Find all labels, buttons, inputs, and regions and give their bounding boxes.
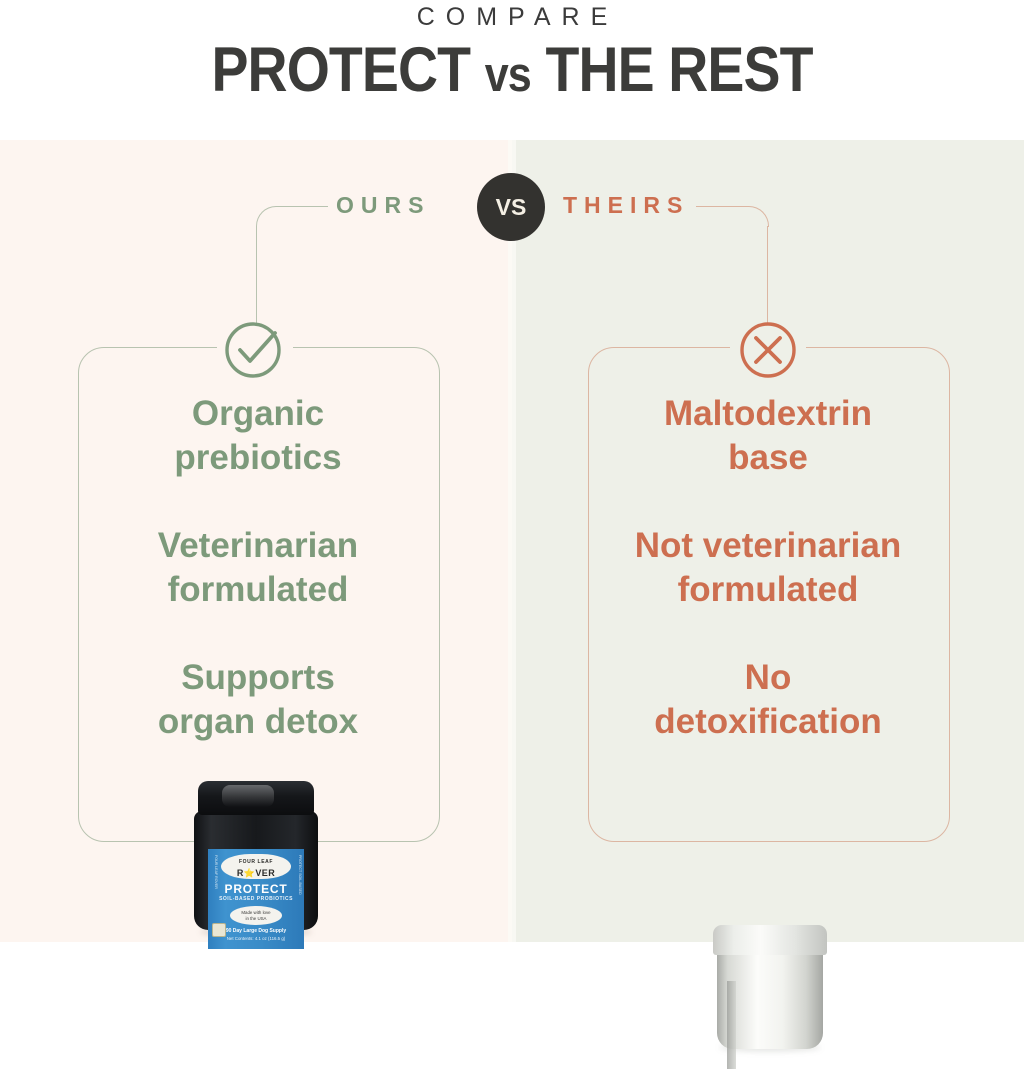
- drawback-list-theirs: Maltodextrinbase Not veterinarianformula…: [588, 392, 948, 744]
- list-item: Veterinarianformulated: [78, 524, 438, 612]
- column-heading-theirs: THEIRS: [563, 190, 689, 220]
- brand-logo-top: FOUR LEAF: [221, 854, 291, 868]
- product-supply-text: 90 Day Large Dog Supply: [208, 928, 304, 935]
- x-circle-icon: [736, 316, 800, 380]
- made-with-love-line2: in the USA: [230, 916, 282, 922]
- connector-line-theirs-horizontal: [696, 206, 748, 207]
- jar-lid-gloss: [222, 785, 274, 807]
- connector-line-ours-horizontal: [276, 206, 328, 207]
- column-heading-ours: OURS: [336, 190, 430, 220]
- competitor-jar-lid: [713, 925, 827, 955]
- brand-logo: FOUR LEAF R⭐VER: [221, 854, 291, 879]
- made-with-love-badge: Made with love in the USA: [230, 906, 282, 925]
- headline-vs-word: vs: [485, 48, 531, 102]
- competitor-jar-body: [717, 951, 823, 1049]
- jar-label: FOUR LEAF ROVER PROTECT SOIL-BASED FOUR …: [208, 849, 304, 949]
- product-name: PROTECT: [208, 882, 304, 896]
- headline-ours-word: PROTECT: [211, 35, 470, 105]
- header: COMPARE PROTECT vs THE REST: [0, 0, 1024, 140]
- comparison-infographic: COMPARE PROTECT vs THE REST OURS THEIRS …: [0, 0, 1024, 942]
- jar-lid: [198, 781, 314, 815]
- page-title: PROTECT vs THE REST: [61, 34, 962, 111]
- product-subtitle: SOIL-BASED PROBIOTICS: [208, 896, 304, 903]
- connector-line-ours-vertical: [256, 226, 257, 324]
- eyebrow-label: COMPARE: [0, 2, 1024, 32]
- comparison-panels: OURS THEIRS VS Organ: [0, 140, 1024, 942]
- competitor-jar-highlight: [727, 981, 736, 1069]
- list-item: Maltodextrinbase: [588, 392, 948, 480]
- product-jar-theirs: [711, 925, 829, 1055]
- product-jar-ours: FOUR LEAF ROVER PROTECT SOIL-BASED FOUR …: [194, 781, 318, 942]
- list-item: Supportsorgan detox: [78, 656, 438, 744]
- list-item: Nodetoxification: [588, 656, 948, 744]
- jar-body: FOUR LEAF ROVER PROTECT SOIL-BASED FOUR …: [194, 811, 318, 930]
- brand-logo-main: R⭐VER: [221, 868, 291, 878]
- list-item: Organicprebiotics: [78, 392, 438, 480]
- connector-line-theirs-vertical: [767, 226, 768, 324]
- product-net-contents: Net Contents: 4.1 oz (116.5 g): [208, 936, 304, 942]
- list-item: Not veterinarianformulated: [588, 524, 948, 612]
- vs-badge: VS: [477, 173, 545, 241]
- panel-divider: [508, 140, 516, 942]
- headline-theirs-word: THE REST: [545, 35, 812, 105]
- check-circle-icon: [223, 316, 287, 380]
- benefit-list-ours: Organicprebiotics Veterinarianformulated…: [78, 392, 438, 744]
